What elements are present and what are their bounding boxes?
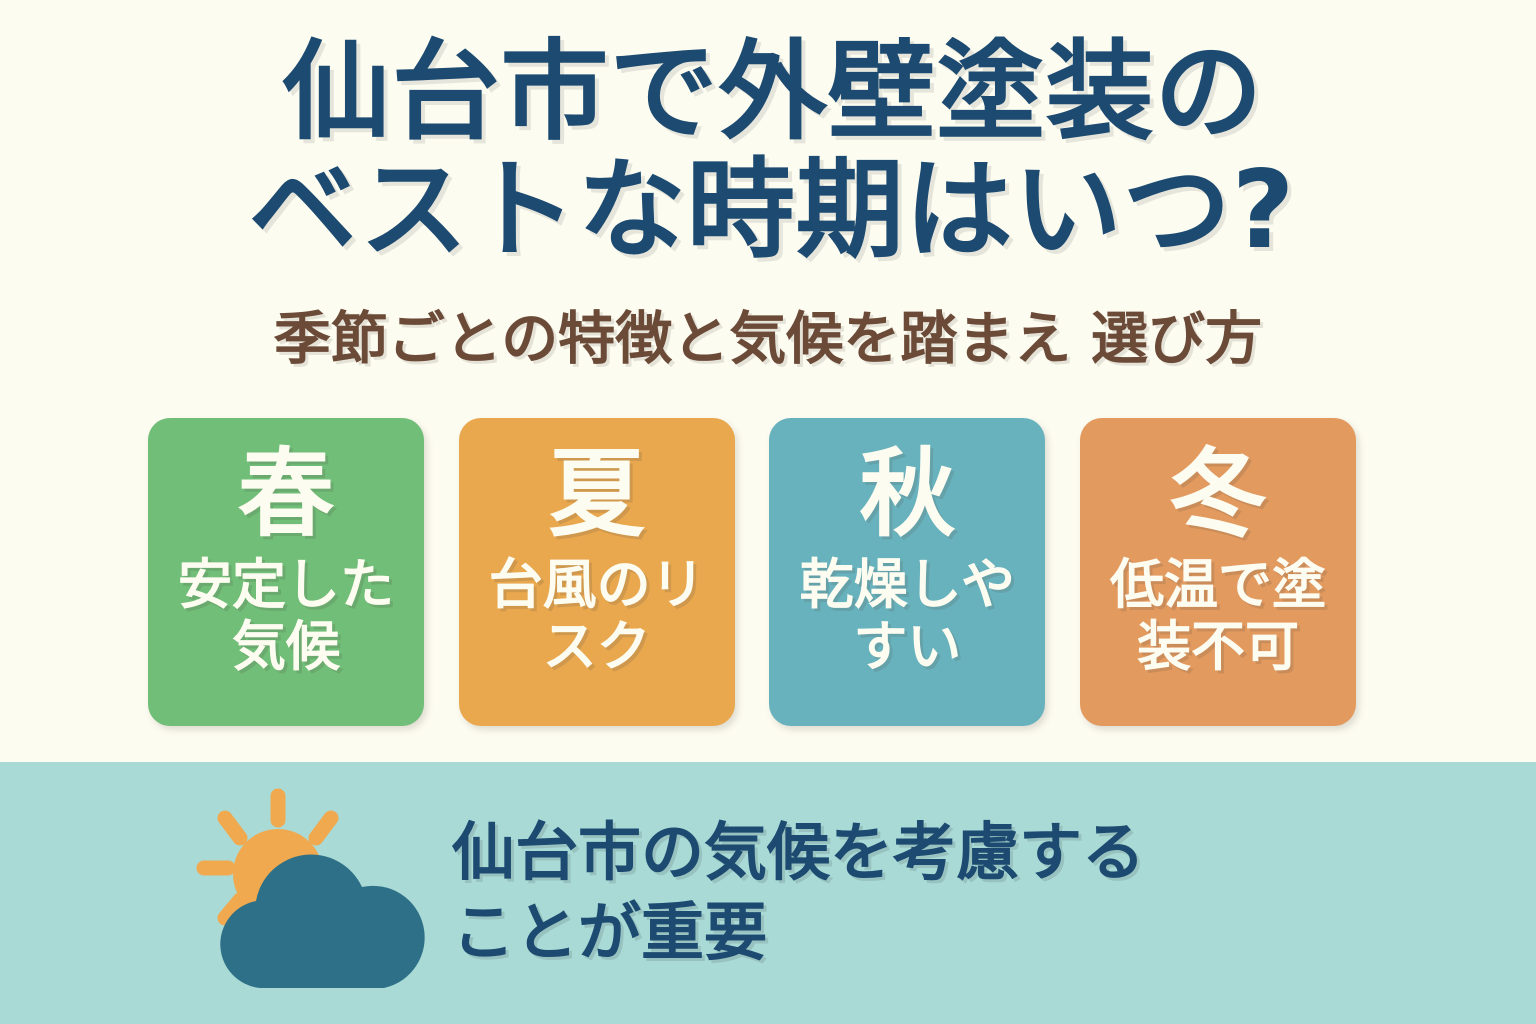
climate-banner: 仙台市の気候を考慮する ことが重要 [0,762,1536,1024]
season-kanji-autumn: 秋 [859,442,955,546]
sun-behind-cloud-icon [182,788,434,998]
banner-message: 仙台市の気候を考慮する ことが重要 [452,813,1145,973]
season-card-summer: 夏 台風のリスク [459,418,735,726]
season-description-summer: 台風のリスク [481,554,713,678]
infographic-poster: 仙台市で外壁塗装の ベストな時期はいつ? 季節ごとの特徴と気候を踏まえ 選び方 … [0,0,1536,1024]
page-title: 仙台市で外壁塗装の ベストな時期はいつ? [0,34,1536,270]
season-description-spring: 安定した気候 [170,554,402,678]
season-kanji-summer: 夏 [549,442,645,546]
season-card-list: 春 安定した気候 夏 台風のリスク 秋 乾燥しやすい 冬 低温で塗装不可 [148,418,1356,726]
banner-line-1: 仙台市の気候を考慮する [452,813,1145,893]
season-kanji-winter: 冬 [1170,442,1266,546]
season-description-winter: 低温で塗装不可 [1102,554,1334,678]
title-line-2: ベストな時期はいつ? [0,152,1536,270]
season-card-spring: 春 安定した気候 [148,418,424,726]
season-card-autumn: 秋 乾燥しやすい [769,418,1045,726]
season-card-winter: 冬 低温で塗装不可 [1080,418,1356,726]
season-kanji-spring: 春 [238,442,334,546]
banner-line-2: ことが重要 [452,893,1145,973]
page-subtitle: 季節ごとの特徴と気候を踏まえ 選び方 [0,306,1536,372]
title-line-1: 仙台市で外壁塗装の [0,34,1536,152]
season-description-autumn: 乾燥しやすい [791,554,1023,678]
